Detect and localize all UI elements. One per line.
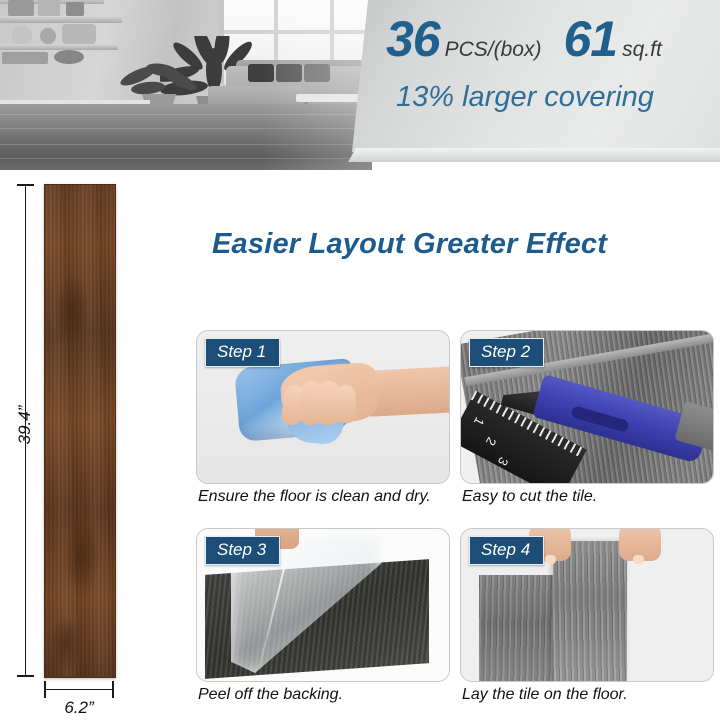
plank-width-label: 6.2” (34, 698, 124, 718)
stats-banner: 36 PCS/(box) 61 sq.ft 13% larger coverin… (352, 0, 720, 152)
step-2-badge: Step 2 (469, 338, 544, 367)
step-1-badge: Step 1 (205, 338, 280, 367)
wood-grain-knot (63, 515, 101, 599)
height-dimension-tick-top (17, 184, 34, 186)
width-dimension-tick-left (44, 681, 46, 698)
step-3-badge: Step 3 (205, 536, 280, 565)
plank-height-label: 39.4” (15, 395, 35, 455)
step-card-1: Step 1 Ensure the floor is clean and dry… (196, 330, 448, 518)
step-card-3: Step 3 Peel off the backing. (196, 528, 448, 716)
infographic-page: 36 PCS/(box) 61 sq.ft 13% larger coverin… (0, 0, 720, 720)
banner-base-strip (348, 148, 720, 162)
step-1-image: Step 1 (196, 330, 450, 484)
banner-subtitle: 13% larger covering (396, 82, 716, 114)
width-dimension-line (44, 689, 114, 690)
area-value: 61 (563, 14, 617, 64)
fingernail (545, 555, 556, 564)
step-1-caption: Ensure the floor is clean and dry. (198, 488, 431, 506)
steps-grid: Step 1 Ensure the floor is clean and dry… (196, 330, 712, 716)
installed-plank (479, 575, 553, 682)
area-unit: sq.ft (622, 39, 662, 60)
step-2-caption: Easy to cut the tile. (462, 488, 597, 506)
living-room-photo (0, 0, 372, 170)
fingernail (633, 555, 644, 564)
step-2-image: 1 2 3 Step 2 (460, 330, 714, 484)
wood-grain-knot (51, 615, 81, 671)
ruler-mark: 1 (471, 415, 488, 428)
section-title: Easier Layout Greater Effect (212, 228, 712, 261)
vinyl-plank-sample (44, 184, 116, 678)
stats-row: 36 PCS/(box) 61 sq.ft (386, 14, 716, 76)
step-3-image: Step 3 (196, 528, 450, 682)
width-dimension-tick-right (112, 681, 114, 698)
wood-grain-knot (55, 275, 89, 345)
finger (336, 384, 358, 423)
step-3-caption: Peel off the backing. (198, 686, 343, 704)
step-4-caption: Lay the tile on the floor. (462, 686, 628, 704)
ruler-mark: 3 (495, 455, 512, 468)
step-4-image: Step 4 (460, 528, 714, 682)
plank-being-laid (553, 541, 627, 682)
ruler-mark: 2 (483, 435, 500, 448)
step-card-4: Step 4 Lay the tile on the floor. (460, 528, 712, 716)
step-4-badge: Step 4 (469, 536, 544, 565)
step-card-2: 1 2 3 Step 2 Easy to cut the tile. (460, 330, 712, 518)
height-dimension-tick-bottom (17, 675, 34, 677)
pcs-unit: PCS/(box) (445, 39, 542, 60)
pcs-value: 36 (386, 14, 440, 64)
photo-edge-fade (0, 0, 372, 170)
